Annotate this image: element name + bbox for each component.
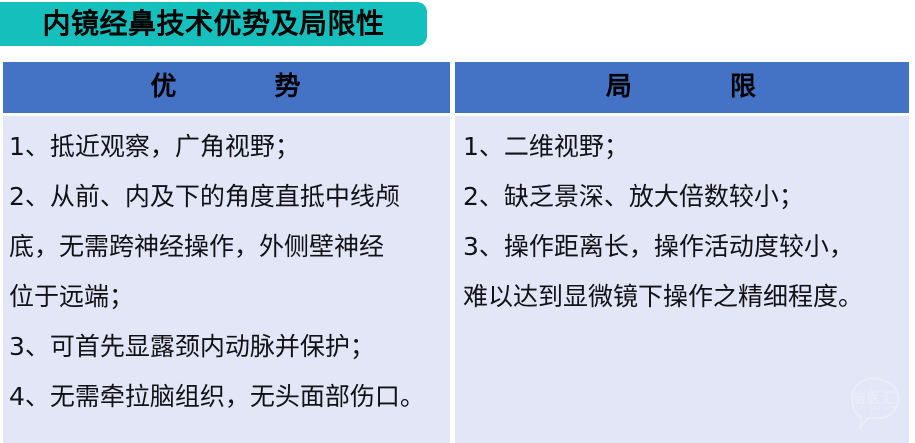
table-cell-limitations: 1、二维视野； 2、缺乏景深、放大倍数较小； 3、操作距离长，操作活动度较小， … [455, 116, 909, 443]
slide-canvas: 内镜经鼻技术优势及局限性 优势 局限 1、抵近观察，广角视野； 2、从前、内及下… [0, 0, 915, 443]
advantages-line: 1、抵近观察，广角视野； [3, 122, 450, 172]
header-limitations-char-2: 限 [730, 72, 758, 102]
slide-title-banner: 内镜经鼻技术优势及局限性 [0, 2, 427, 46]
advantages-line: 2、从前、内及下的角度直抵中线颅 [3, 172, 450, 222]
table-header-limitations: 局限 [455, 62, 909, 113]
limitations-line-list: 1、二维视野； 2、缺乏景深、放大倍数较小； 3、操作距离长，操作活动度较小， … [455, 122, 909, 322]
table-header-row: 优势 局限 [3, 62, 909, 113]
advantages-line: 底，无需跨神经操作，外侧壁神经 [3, 222, 450, 272]
table-body-row: 1、抵近观察，广角视野； 2、从前、内及下的角度直抵中线颅 底，无需跨神经操作，… [3, 116, 909, 443]
advantages-line: 位于远端； [3, 272, 450, 322]
comparison-table: 优势 局限 1、抵近观察，广角视野； 2、从前、内及下的角度直抵中线颅 底，无需… [3, 62, 909, 443]
advantages-line: 4、无需牵拉脑组织，无头面部伤口。 [3, 372, 450, 422]
limitations-line: 2、缺乏景深、放大倍数较小； [455, 172, 909, 222]
limitations-line: 3、操作距离长，操作活动度较小， [455, 222, 909, 272]
limitations-line: 难以达到显微镜下操作之精细程度。 [455, 272, 909, 322]
table-cell-advantages: 1、抵近观察，广角视野； 2、从前、内及下的角度直抵中线颅 底，无需跨神经操作，… [3, 116, 450, 443]
header-advantages-char-2: 势 [275, 72, 303, 102]
advantages-line-list: 1、抵近观察，广角视野； 2、从前、内及下的角度直抵中线颅 底，无需跨神经操作，… [3, 122, 450, 422]
header-limitations-char-1: 局 [606, 72, 634, 102]
advantages-line: 3、可首先显露颈内动脉并保护； [3, 322, 450, 372]
header-advantages-char-1: 优 [150, 72, 178, 102]
table-header-advantages: 优势 [3, 62, 450, 113]
slide-title-text: 内镜经鼻技术优势及局限性 [0, 2, 427, 46]
limitations-line: 1、二维视野； [455, 122, 909, 172]
